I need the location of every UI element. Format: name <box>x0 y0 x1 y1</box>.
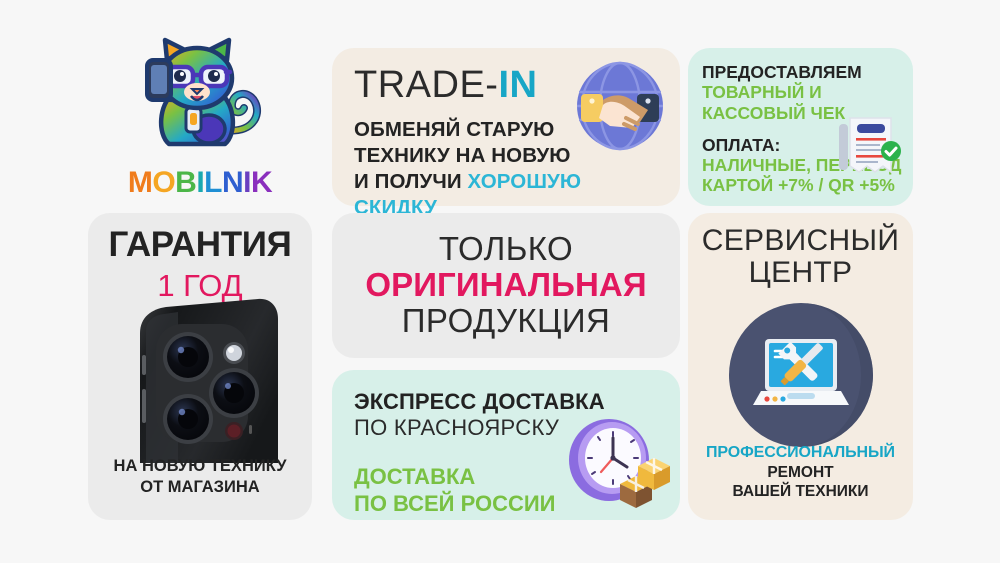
brand-letter-6: I <box>243 168 251 198</box>
service-footer: ПРОФЕССИОНАЛЬНЫЙ РЕМОНТ ВАШЕЙ ТЕХНИКИ <box>688 443 913 502</box>
card-service-center: СЕРВИСНЫЙ ЦЕНТР <box>688 213 913 520</box>
clock-and-parcels-icon <box>560 412 672 512</box>
guarantee-foot-line-1: НА НОВУЮ ТЕХНИКУ <box>88 456 312 477</box>
guarantee-title: ГАРАНТИЯ <box>88 227 312 262</box>
promo-board: MOBILNIK TRADE-IN ОБМЕНЯЙ СТАРУЮ ТЕХНИКУ… <box>0 0 1000 563</box>
delivery-line-1: ЭКСПРЕСС ДОСТАВКА <box>354 390 680 414</box>
original-line-2: ОРИГИНАЛЬНАЯ <box>365 267 646 303</box>
original-line-1: ТОЛЬКО <box>439 232 573 267</box>
service-title: СЕРВИСНЫЙ ЦЕНТР <box>688 225 913 289</box>
globe-handshake-icon <box>574 60 666 152</box>
guarantee-footer: НА НОВУЮ ТЕХНИКУ ОТ МАГАЗИНА <box>88 456 312 498</box>
trade-in-line-3-plain: И ПОЛУЧИ <box>354 170 467 193</box>
card-cheque-payment: ПРЕДОСТАВЛЯЕМ ТОВАРНЫЙ И КАССОВЫЙ ЧЕК ОП… <box>688 48 913 206</box>
service-title-line-1: СЕРВИСНЫЙ <box>688 225 913 257</box>
trade-in-title-plain: TRADE <box>354 64 485 106</box>
trade-in-title-dash: - <box>485 64 498 106</box>
original-line-3: ПРОДУКЦИЯ <box>402 303 610 339</box>
rainbow-cat-with-smartphone-icon <box>129 34 271 162</box>
receipt-check-icon <box>833 110 907 188</box>
brand-letter-0: M <box>128 168 153 198</box>
guarantee-foot-line-2: ОТ МАГАЗИНА <box>88 477 312 498</box>
service-title-line-2: ЦЕНТР <box>688 257 913 289</box>
brand-letter-1: O <box>152 168 175 198</box>
service-foot-line-3: ВАШЕЙ ТЕХНИКИ <box>688 482 913 502</box>
brand-letter-2: B <box>175 168 196 198</box>
laptop-repair-tools-icon <box>727 301 875 449</box>
cheque-line-2: ТОВАРНЫЙ И <box>702 82 901 102</box>
brand-letter-3: I <box>196 168 204 198</box>
brand-letter-4: L <box>204 168 222 198</box>
brand-letter-5: N <box>222 168 243 198</box>
service-foot-line-1: ПРОФЕССИОНАЛЬНЫЙ <box>688 443 913 463</box>
card-trade-in: TRADE-IN ОБМЕНЯЙ СТАРУЮ ТЕХНИКУ НА НОВУЮ… <box>332 48 680 206</box>
brand-letter-7: K <box>251 168 272 198</box>
iphone-pro-camera-icon <box>118 297 282 463</box>
cheque-line-1: ПРЕДОСТАВЛЯЕМ <box>702 62 901 82</box>
service-foot-line-2: РЕМОНТ <box>688 463 913 483</box>
brand-logo-block: MOBILNIK <box>88 30 312 205</box>
brand-wordmark: MOBILNIK <box>128 168 272 198</box>
trade-in-title-accent: IN <box>498 64 537 106</box>
card-original-product: ТОЛЬКО ОРИГИНАЛЬНАЯ ПРОДУКЦИЯ <box>332 213 680 358</box>
card-delivery: ЭКСПРЕСС ДОСТАВКА ПО КРАСНОЯРСКУ ДОСТАВК… <box>332 370 680 520</box>
card-guarantee: ГАРАНТИЯ 1 ГОД <box>88 213 312 520</box>
